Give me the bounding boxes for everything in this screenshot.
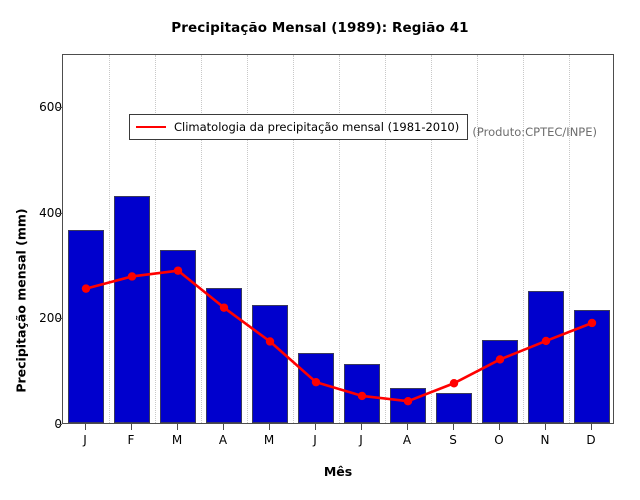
plot-area: Climatologia da precipitação mensal (198… — [62, 54, 614, 424]
climatology-line-series — [63, 55, 613, 423]
x-tick-label-2: M — [157, 433, 197, 447]
legend-label: Climatologia da precipitação mensal (198… — [174, 120, 459, 134]
credit-annotation: (Produto:CPTEC/INPE) — [472, 125, 597, 139]
climatology-polyline — [86, 271, 592, 402]
climatology-point-9 — [496, 355, 504, 363]
x-tick-label-9: O — [479, 433, 519, 447]
chart-figure: Precipitação Mensal (1989): Região 41 Pr… — [0, 0, 640, 500]
x-axis-tick-labels: JFMAMJJASOND — [62, 433, 614, 451]
x-tick-mark-9 — [499, 424, 500, 430]
x-tick-mark-2 — [177, 424, 178, 430]
x-tick-mark-10 — [545, 424, 546, 430]
x-tick-label-8: S — [433, 433, 473, 447]
page-title: Precipitação Mensal (1989): Região 41 — [0, 20, 640, 36]
x-tick-mark-3 — [223, 424, 224, 430]
climatology-point-7 — [404, 397, 412, 405]
x-tick-label-10: N — [525, 433, 565, 447]
climatology-point-10 — [542, 337, 550, 345]
climatology-point-6 — [358, 392, 366, 400]
x-tick-label-4: M — [249, 433, 289, 447]
y-tick-label-0: 0 — [16, 417, 62, 431]
climatology-point-2 — [174, 266, 182, 274]
climatology-point-3 — [220, 303, 228, 311]
x-tick-mark-1 — [131, 424, 132, 430]
x-axis-tickmarks — [62, 424, 614, 430]
y-tick-label-400: 400 — [16, 206, 62, 220]
x-tick-label-3: A — [203, 433, 243, 447]
climatology-point-1 — [128, 272, 136, 280]
climatology-point-0 — [82, 284, 90, 292]
y-axis-label: Precipitação mensal (mm) — [14, 141, 29, 461]
x-tick-mark-4 — [269, 424, 270, 430]
plot-inner — [63, 55, 613, 423]
climatology-point-5 — [312, 378, 320, 386]
x-tick-label-11: D — [571, 433, 611, 447]
x-tick-label-5: J — [295, 433, 335, 447]
y-axis: Precipitação mensal (mm) 0200400600 — [0, 54, 62, 424]
y-tick-label-600: 600 — [16, 100, 62, 114]
legend: Climatologia da precipitação mensal (198… — [129, 114, 468, 140]
x-tick-mark-7 — [407, 424, 408, 430]
legend-line-swatch-icon — [136, 126, 166, 128]
climatology-point-11 — [588, 319, 596, 327]
x-tick-label-0: J — [65, 433, 105, 447]
x-tick-mark-8 — [453, 424, 454, 430]
x-tick-mark-11 — [591, 424, 592, 430]
x-tick-label-1: F — [111, 433, 151, 447]
x-tick-mark-6 — [361, 424, 362, 430]
x-tick-label-7: A — [387, 433, 427, 447]
x-tick-label-6: J — [341, 433, 381, 447]
climatology-markers — [82, 266, 596, 405]
x-tick-mark-5 — [315, 424, 316, 430]
climatology-point-8 — [450, 379, 458, 387]
x-tick-mark-0 — [85, 424, 86, 430]
y-tick-label-200: 200 — [16, 311, 62, 325]
x-axis-label: Mês — [62, 464, 614, 479]
climatology-point-4 — [266, 337, 274, 345]
